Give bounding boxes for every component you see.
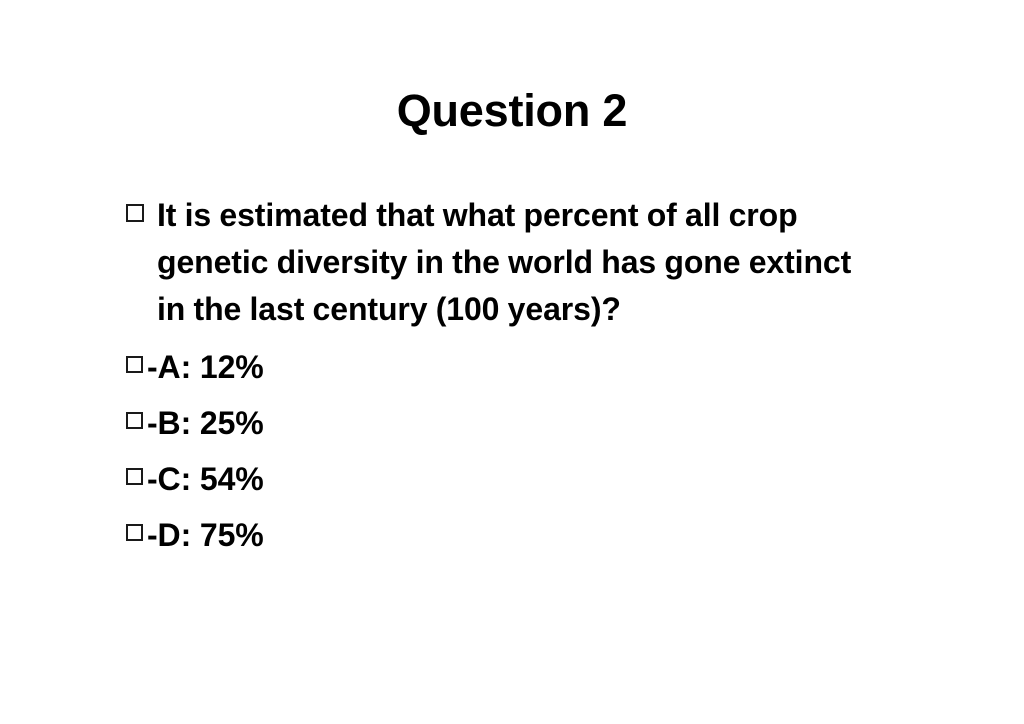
answer-option-b[interactable]: -B: 25% <box>126 401 826 457</box>
empty-square-checkbox-icon[interactable] <box>126 468 143 485</box>
question-block: It is estimated that what percent of all… <box>126 192 926 333</box>
question-text: It is estimated that what percent of all… <box>157 192 863 333</box>
answer-option-label: -A: 12% <box>147 345 264 389</box>
answer-option-label: -D: 75% <box>147 513 264 557</box>
answer-options-list: -A: 12% -B: 25% -C: 54% -D: 75% <box>126 345 826 569</box>
answer-option-label: -C: 54% <box>147 457 264 501</box>
page-title: Question 2 <box>0 84 1024 138</box>
slide-canvas: Question 2 It is estimated that what per… <box>0 0 1024 724</box>
empty-square-checkbox-icon[interactable] <box>126 204 144 222</box>
empty-square-checkbox-icon[interactable] <box>126 524 143 541</box>
question-bullet-row: It is estimated that what percent of all… <box>126 192 926 333</box>
answer-option-d[interactable]: -D: 75% <box>126 513 826 569</box>
empty-square-checkbox-icon[interactable] <box>126 356 143 373</box>
answer-option-a[interactable]: -A: 12% <box>126 345 826 401</box>
answer-option-c[interactable]: -C: 54% <box>126 457 826 513</box>
answer-option-label: -B: 25% <box>147 401 264 445</box>
empty-square-checkbox-icon[interactable] <box>126 412 143 429</box>
